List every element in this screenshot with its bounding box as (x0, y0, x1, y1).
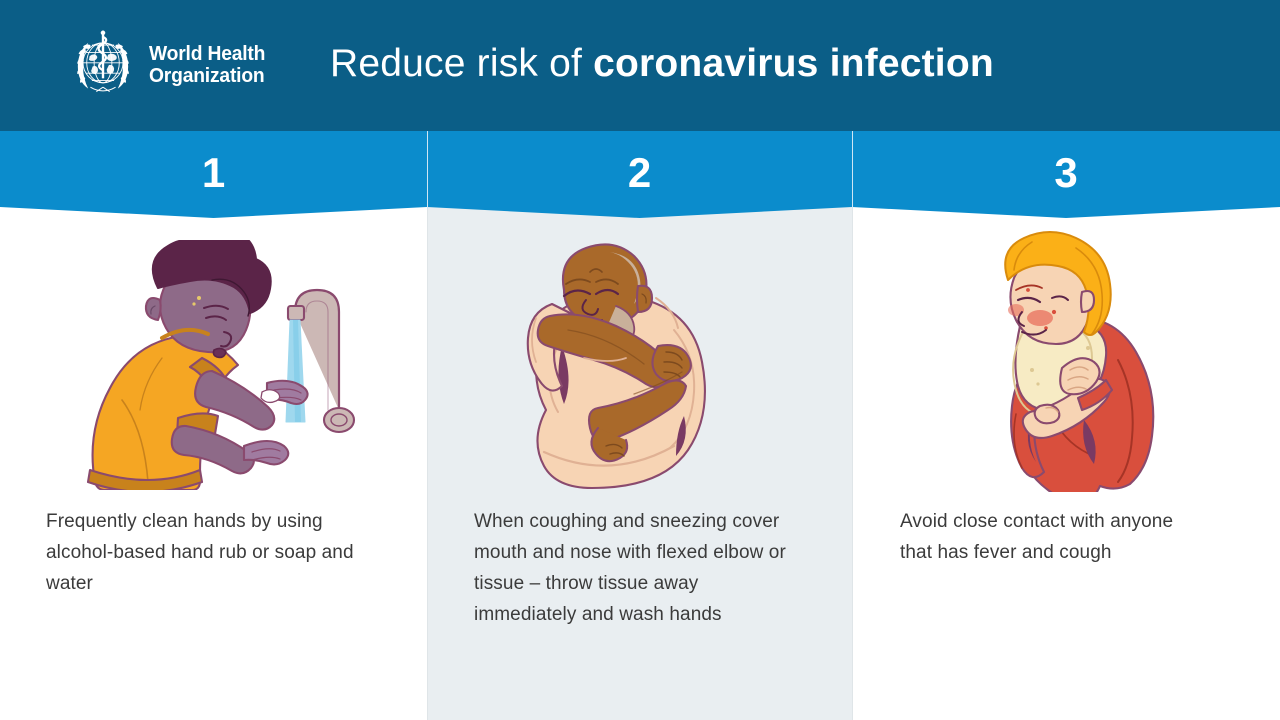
who-wordmark: World Health Organization (149, 43, 265, 87)
who-logo-lockup: World Health Organization (66, 28, 273, 102)
step-number-2: 2 (427, 152, 852, 194)
who-emblem-icon (66, 28, 140, 102)
sick-person-illustration (958, 230, 1192, 492)
page-title-emphasis: coronavirus infection (593, 42, 994, 85)
panel-caption-3: Avoid close contact with anyone that has… (900, 506, 1200, 568)
who-infographic-poster: World Health Organization Reduce risk of… (0, 0, 1280, 720)
page-title-plain: Reduce risk of (330, 42, 593, 85)
page-header: World Health Organization Reduce risk of… (0, 0, 1280, 131)
cough-into-elbow-illustration (498, 238, 774, 490)
panel-caption-2: When coughing and sneezing cover mouth a… (474, 506, 804, 630)
panel-divider-1 (427, 209, 428, 720)
page-title: Reduce risk of coronavirus infection (330, 43, 994, 86)
panel-divider-2 (852, 209, 853, 720)
step-number-1: 1 (0, 152, 427, 194)
handwashing-illustration (62, 240, 374, 490)
step-number-3: 3 (852, 152, 1280, 194)
panel-caption-1: Frequently clean hands by using alcohol-… (46, 506, 376, 599)
